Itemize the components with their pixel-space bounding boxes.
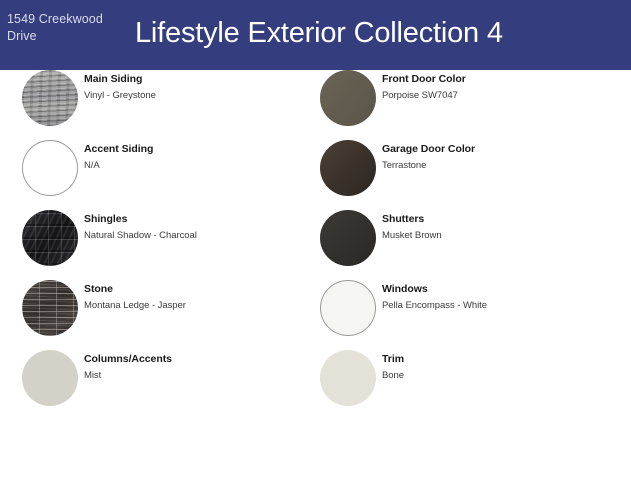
selection-text-trim: TrimBone — [382, 352, 620, 382]
swatch-shingles — [22, 210, 78, 266]
page-title: Lifestyle Exterior Collection 4 — [135, 13, 503, 53]
selection-item-trim[interactable]: TrimBone — [320, 350, 620, 406]
selection-item-windows[interactable]: WindowsPella Encompass - White — [320, 280, 620, 336]
selection-item-front-door-color[interactable]: Front Door ColorPorpoise SW7047 — [320, 70, 620, 126]
selection-item-main-siding[interactable]: Main SidingVinyl - Greystone — [22, 70, 322, 126]
swatch-garage-door-color — [320, 140, 376, 196]
selection-value: Vinyl - Greystone — [84, 89, 322, 102]
selection-text-accent-siding: Accent SidingN/A — [84, 142, 322, 172]
property-address: 1549 Creekwood Drive — [7, 11, 127, 45]
selection-item-garage-door-color[interactable]: Garage Door ColorTerrastone — [320, 140, 620, 196]
selection-text-columns-accents: Columns/AccentsMist — [84, 352, 322, 382]
selection-text-shutters: ShuttersMusket Brown — [382, 212, 620, 242]
selection-item-accent-siding[interactable]: Accent SidingN/A — [22, 140, 322, 196]
selection-item-stone[interactable]: StoneMontana Ledge - Jasper — [22, 280, 322, 336]
swatch-windows — [320, 280, 376, 336]
swatch-shutters — [320, 210, 376, 266]
selection-value: N/A — [84, 159, 322, 172]
swatch-trim — [320, 350, 376, 406]
swatch-front-door-color — [320, 70, 376, 126]
selection-label: Shingles — [84, 212, 322, 226]
selection-item-shingles[interactable]: ShinglesNatural Shadow - Charcoal — [22, 210, 322, 266]
selection-value: Bone — [382, 369, 620, 382]
selection-label: Accent Siding — [84, 142, 322, 156]
selection-text-stone: StoneMontana Ledge - Jasper — [84, 282, 322, 312]
selection-label: Shutters — [382, 212, 620, 226]
selection-text-windows: WindowsPella Encompass - White — [382, 282, 620, 312]
selection-value: Terrastone — [382, 159, 620, 172]
selection-text-front-door-color: Front Door ColorPorpoise SW7047 — [382, 72, 620, 102]
page-header: 1549 Creekwood Drive Lifestyle Exterior … — [0, 0, 631, 70]
selection-value: Montana Ledge - Jasper — [84, 299, 322, 312]
selection-value: Natural Shadow - Charcoal — [84, 229, 322, 242]
selection-text-garage-door-color: Garage Door ColorTerrastone — [382, 142, 620, 172]
selection-value: Pella Encompass - White — [382, 299, 620, 312]
selection-label: Trim — [382, 352, 620, 366]
selection-value: Mist — [84, 369, 322, 382]
swatch-main-siding — [22, 70, 78, 126]
selection-item-shutters[interactable]: ShuttersMusket Brown — [320, 210, 620, 266]
selection-label: Main Siding — [84, 72, 322, 86]
selection-value: Musket Brown — [382, 229, 620, 242]
selection-board: Main SidingVinyl - GreystoneAccent Sidin… — [0, 70, 631, 480]
selection-text-shingles: ShinglesNatural Shadow - Charcoal — [84, 212, 322, 242]
swatch-columns-accents — [22, 350, 78, 406]
selection-label: Columns/Accents — [84, 352, 322, 366]
swatch-accent-siding — [22, 140, 78, 196]
selection-label: Stone — [84, 282, 322, 296]
swatch-stone — [22, 280, 78, 336]
selection-item-columns-accents[interactable]: Columns/AccentsMist — [22, 350, 322, 406]
selection-value: Porpoise SW7047 — [382, 89, 620, 102]
selection-label: Front Door Color — [382, 72, 620, 86]
selection-label: Windows — [382, 282, 620, 296]
selection-text-main-siding: Main SidingVinyl - Greystone — [84, 72, 322, 102]
selection-label: Garage Door Color — [382, 142, 620, 156]
